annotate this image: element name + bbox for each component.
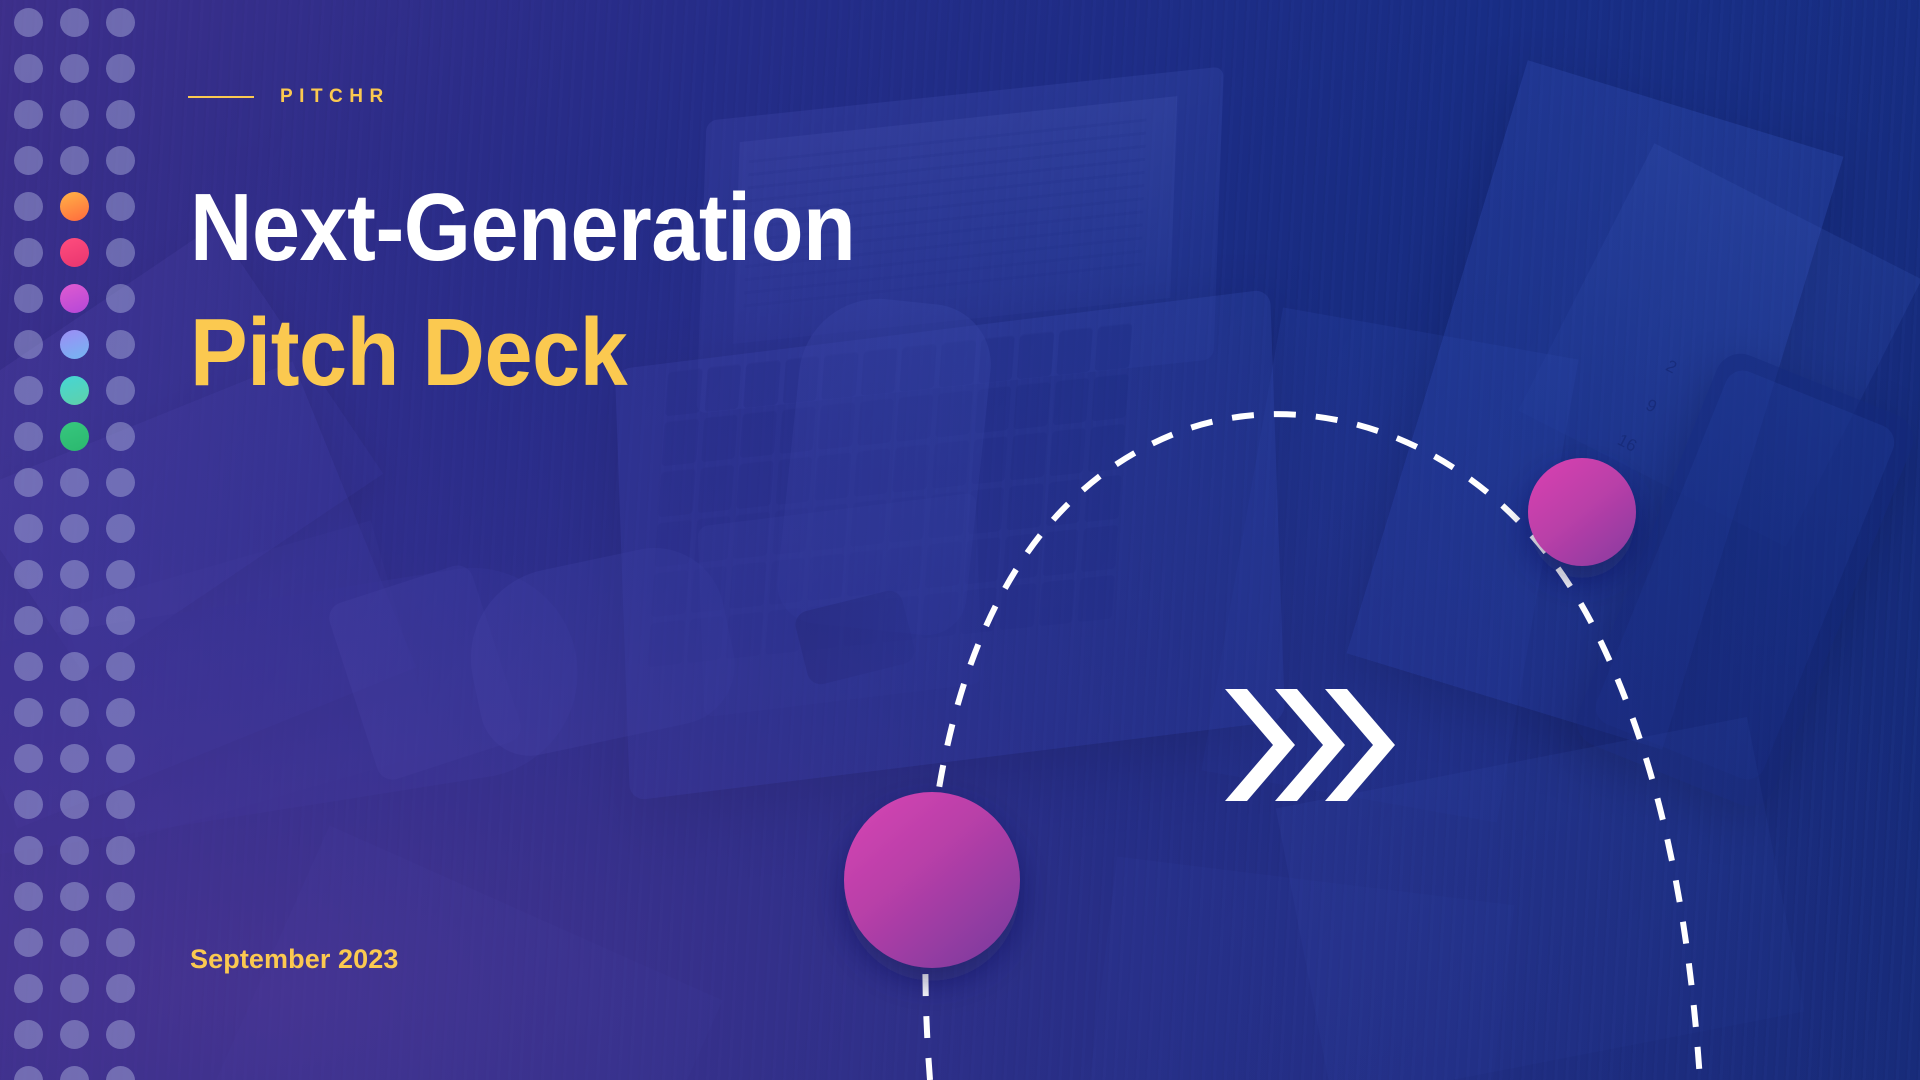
dot-muted — [14, 376, 43, 405]
dot-muted — [60, 514, 89, 543]
dot-muted — [106, 284, 135, 313]
title-line-one: Next-Generation — [190, 166, 855, 291]
dot-muted — [14, 1020, 43, 1049]
dot-muted — [14, 238, 43, 267]
dot-muted — [60, 146, 89, 175]
dot-muted — [106, 8, 135, 37]
dot-accent-pink — [60, 238, 89, 267]
dot-muted — [14, 698, 43, 727]
dot-muted — [106, 468, 135, 497]
dot-muted — [60, 8, 89, 37]
dot-muted — [60, 836, 89, 865]
dot-muted — [14, 560, 43, 589]
dot-muted — [14, 422, 43, 451]
dot-muted — [106, 1066, 135, 1080]
dot-muted — [14, 468, 43, 497]
dot-muted — [14, 882, 43, 911]
dot-muted — [60, 54, 89, 83]
dot-muted — [106, 514, 135, 543]
dot-muted — [14, 974, 43, 1003]
dot-muted — [60, 1066, 89, 1080]
dot-muted — [14, 8, 43, 37]
dot-muted — [60, 882, 89, 911]
dot-accent-magenta — [60, 284, 89, 313]
dot-muted — [106, 330, 135, 359]
dot-muted — [60, 1020, 89, 1049]
dot-muted — [14, 652, 43, 681]
dot-muted — [14, 790, 43, 819]
page-title: Next-Generation Pitch Deck — [190, 166, 929, 416]
dot-muted — [14, 1066, 43, 1080]
dot-muted — [106, 54, 135, 83]
dot-muted — [60, 652, 89, 681]
dot-muted — [106, 606, 135, 635]
eyebrow: PITCHR — [188, 86, 390, 108]
dot-muted — [60, 744, 89, 773]
dot-muted — [14, 744, 43, 773]
dot-muted — [14, 330, 43, 359]
slide-date: September 2023 — [190, 944, 399, 975]
horizontal-rule-icon — [188, 96, 254, 98]
dot-muted — [60, 928, 89, 957]
dot-muted — [106, 744, 135, 773]
dot-muted — [60, 100, 89, 129]
dot-muted — [60, 974, 89, 1003]
dot-accent-cyan — [60, 376, 89, 405]
dot-muted — [106, 100, 135, 129]
dot-muted — [60, 698, 89, 727]
dot-muted — [14, 192, 43, 221]
dot-muted — [14, 100, 43, 129]
dot-muted — [14, 928, 43, 957]
dot-muted — [106, 238, 135, 267]
dot-muted — [14, 514, 43, 543]
dot-muted — [106, 376, 135, 405]
dot-muted — [60, 790, 89, 819]
dot-muted — [106, 652, 135, 681]
dot-grid-decoration — [14, 8, 152, 1080]
dot-muted — [106, 192, 135, 221]
dot-muted — [60, 606, 89, 635]
dot-muted — [106, 790, 135, 819]
dot-accent-violet — [60, 330, 89, 359]
dot-muted — [106, 698, 135, 727]
chevron-right-icon — [1225, 685, 1395, 805]
dot-muted — [60, 468, 89, 497]
dot-muted — [60, 560, 89, 589]
color-overlay-glow — [0, 0, 1920, 1080]
dot-muted — [14, 54, 43, 83]
dot-muted — [14, 146, 43, 175]
dot-muted — [106, 882, 135, 911]
dot-muted — [14, 606, 43, 635]
dot-accent-green — [60, 422, 89, 451]
dot-muted — [106, 928, 135, 957]
dot-muted — [106, 836, 135, 865]
dot-muted — [106, 422, 135, 451]
title-slide: 29162330 — [0, 0, 1920, 1080]
dot-muted — [106, 974, 135, 1003]
dot-muted — [106, 560, 135, 589]
dot-muted — [14, 284, 43, 313]
brand-name: PITCHR — [280, 86, 390, 108]
dot-muted — [106, 146, 135, 175]
dot-accent-orange — [60, 192, 89, 221]
dot-muted — [14, 836, 43, 865]
dot-muted — [106, 1020, 135, 1049]
title-line-two: Pitch Deck — [190, 291, 855, 416]
